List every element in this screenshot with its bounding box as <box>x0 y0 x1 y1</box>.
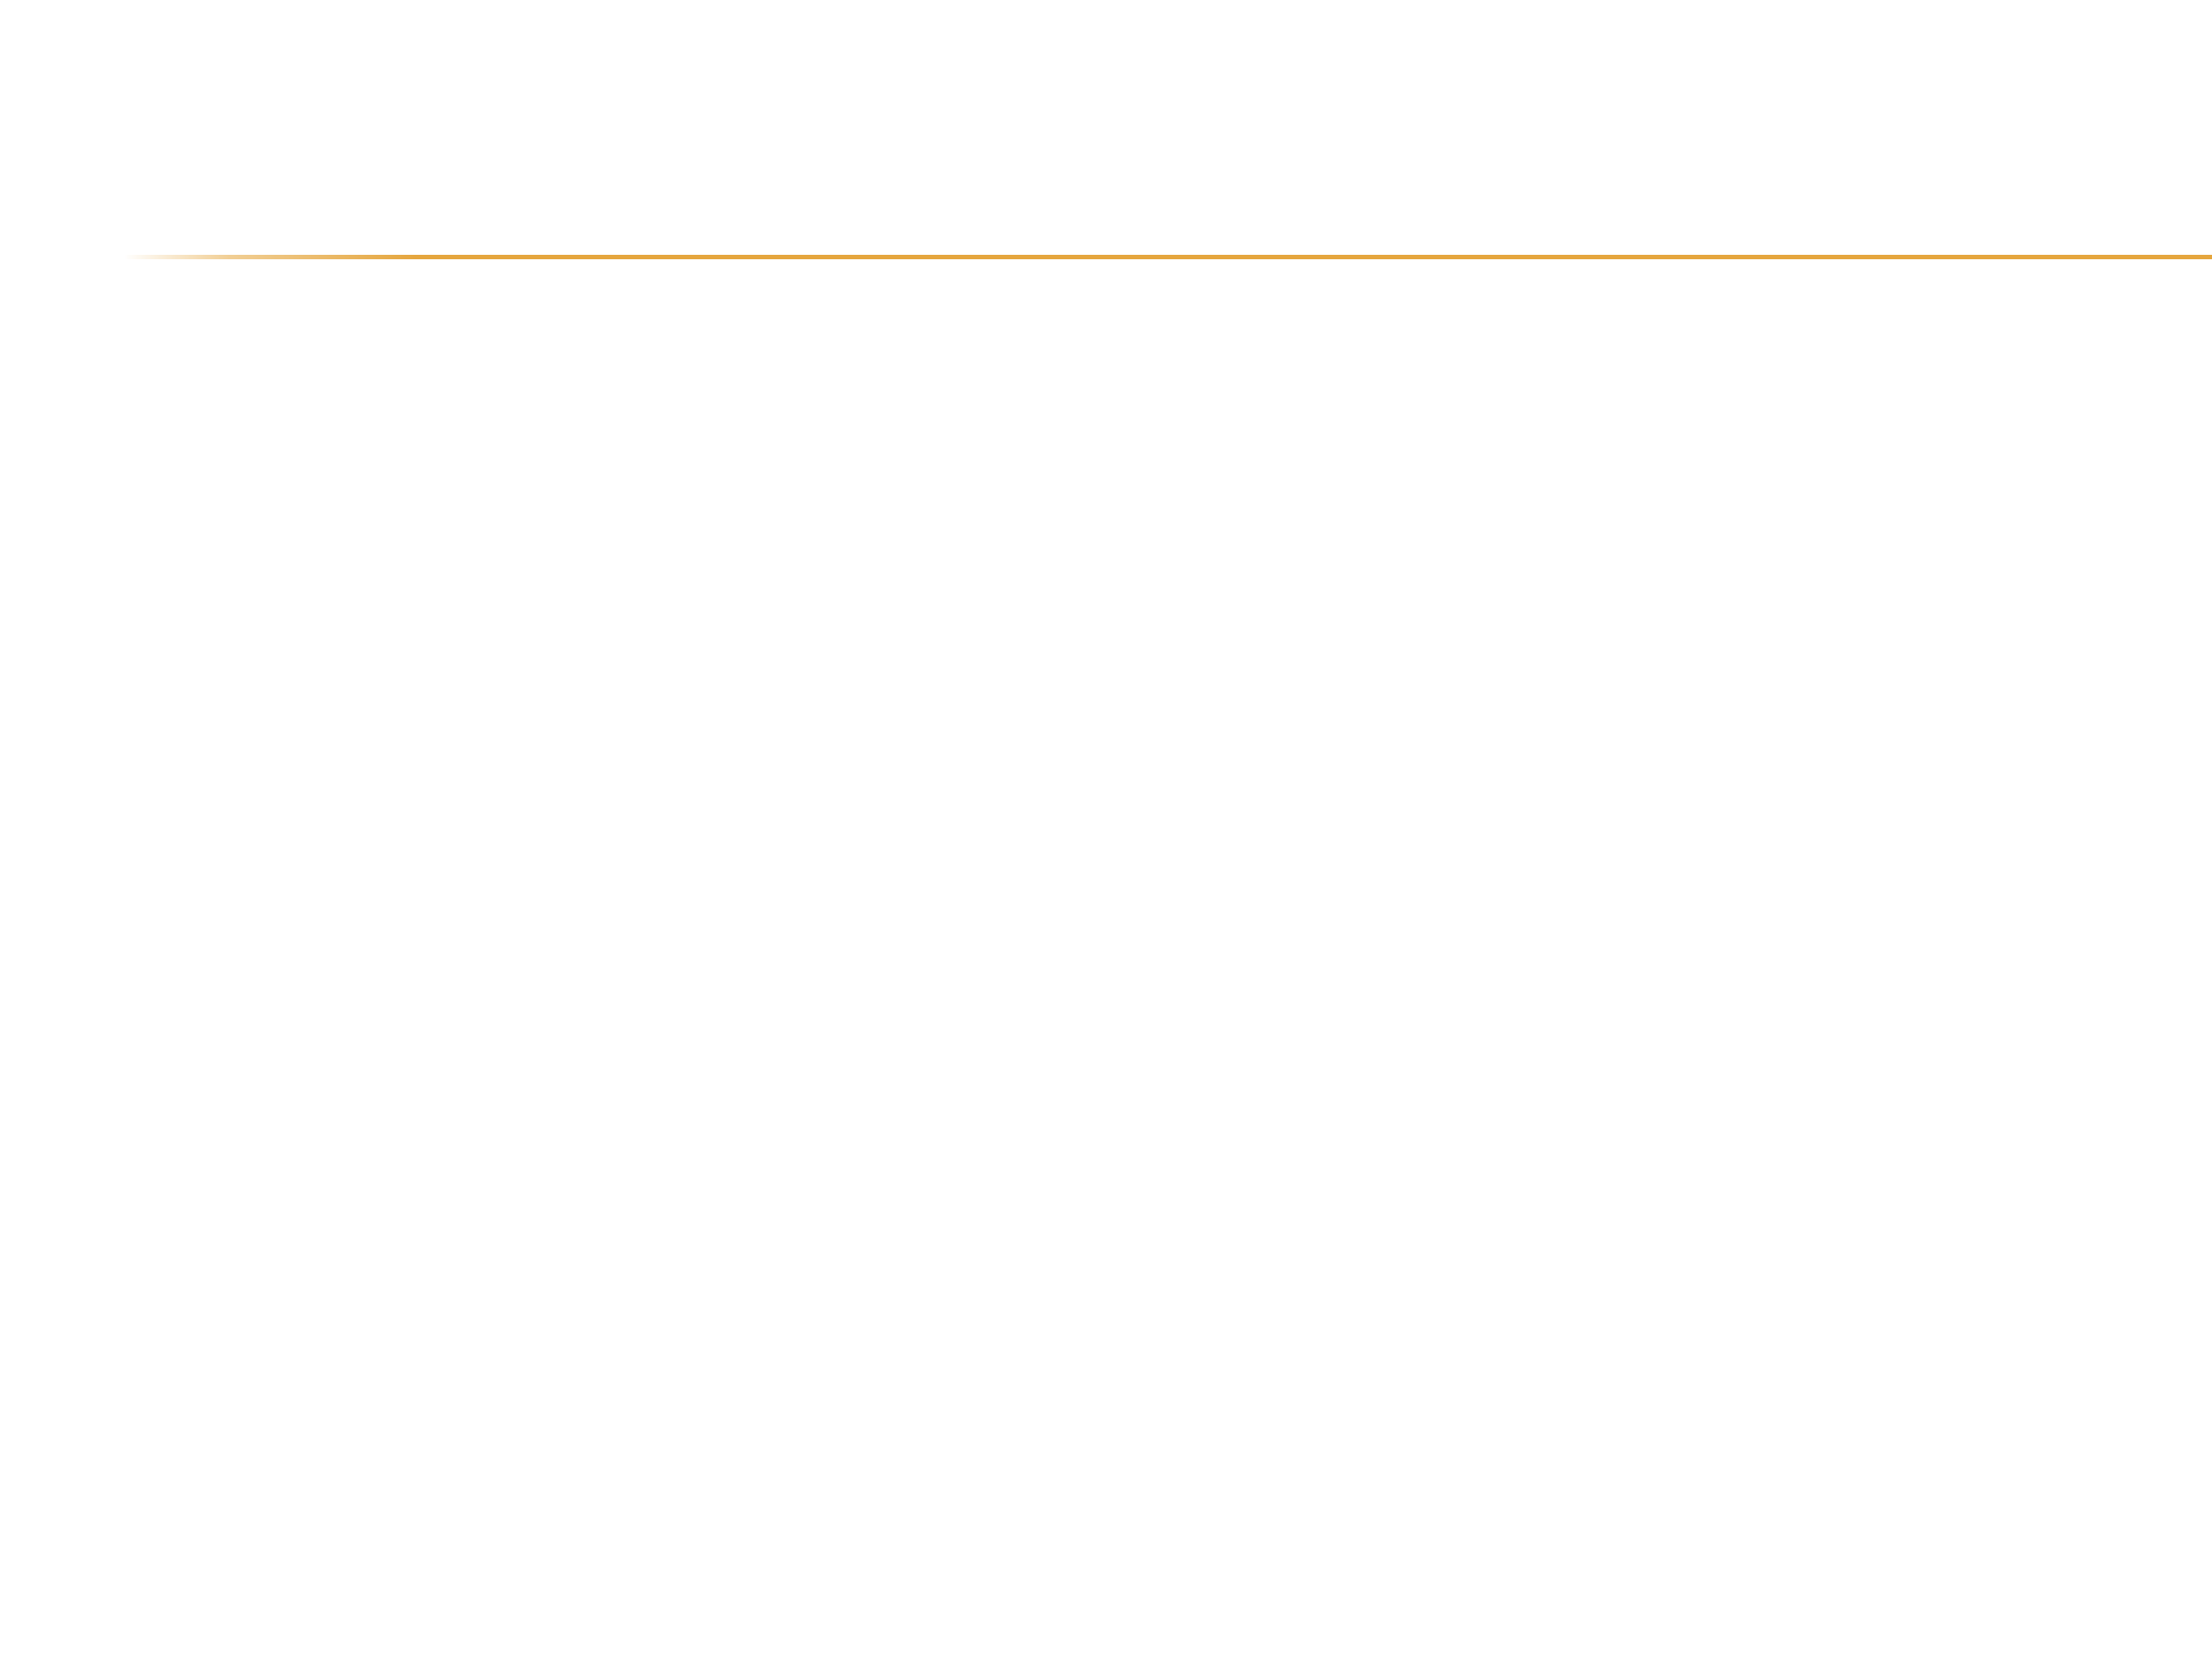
desc-line <box>668 656 1102 703</box>
desc-line <box>252 560 677 607</box>
milestone-desc-2013 <box>668 609 1102 703</box>
desc-line <box>252 513 677 560</box>
desc-line <box>1818 1305 2146 1352</box>
desc-line <box>1283 1350 1787 1397</box>
milestone-desc-2017 <box>1283 1256 1787 1397</box>
milestone-desc-2000 <box>252 513 677 607</box>
desc-line <box>1283 1303 1787 1350</box>
desc-line <box>668 609 1102 656</box>
desc-line <box>1818 1352 2146 1399</box>
milestone-desc-2021 <box>1818 1305 2146 1399</box>
desc-line <box>1283 1256 1787 1303</box>
slide-canvas <box>0 0 2212 1659</box>
title-accent-rule <box>124 255 2212 259</box>
